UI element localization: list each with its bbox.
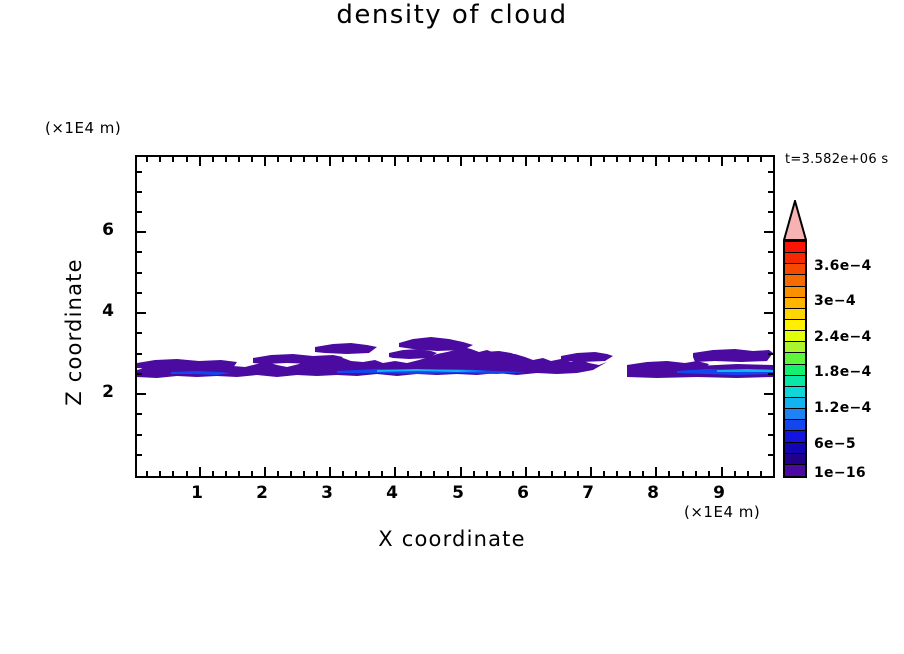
x-tick-minor — [708, 471, 710, 476]
x-tick-minor — [512, 471, 514, 476]
x-tick-top-minor — [277, 157, 279, 162]
x-tick-minor — [225, 471, 227, 476]
colorbar-band — [785, 353, 805, 364]
colorbar-tick-label: 1.8e−4 — [814, 364, 872, 380]
x-tick-minor — [159, 471, 161, 476]
colorbar-band — [785, 431, 805, 442]
x-tick-minor — [629, 471, 631, 476]
colorbar-band — [785, 420, 805, 431]
colorbar[interactable] — [783, 240, 807, 478]
y-tick-minor — [137, 211, 142, 213]
x-tick-top-minor — [251, 157, 253, 162]
x-tick-top-minor — [668, 157, 670, 162]
x-tick-top-minor — [433, 157, 435, 162]
x-tick-top-minor — [355, 157, 357, 162]
x-tick-top-minor — [159, 157, 161, 162]
x-tick-top-minor — [747, 157, 749, 162]
x-tick-minor — [355, 471, 357, 476]
x-tick-top-minor — [342, 157, 344, 162]
y-tick-right-minor — [768, 413, 773, 415]
y-tick-right-minor — [768, 434, 773, 436]
x-tick-major — [264, 467, 266, 476]
x-tick-minor — [747, 471, 749, 476]
colorbar-tick-label: 1.2e−4 — [814, 400, 872, 416]
x-tick-top-minor — [225, 157, 227, 162]
colorbar-band — [785, 387, 805, 398]
colorbar-tick-label: 3e−4 — [814, 293, 856, 309]
x-tick-top-minor — [629, 157, 631, 162]
x-tick-major — [590, 467, 592, 476]
x-tick-minor — [577, 471, 579, 476]
x-tick-minor — [473, 471, 475, 476]
x-tick-top-minor — [538, 157, 540, 162]
colorbar-band — [785, 309, 805, 320]
x-tick-label: 2 — [242, 483, 282, 503]
x-tick-minor — [734, 471, 736, 476]
x-tick-minor — [251, 471, 253, 476]
x-tick-top-minor — [682, 157, 684, 162]
colorbar-band — [785, 454, 805, 465]
y-axis-title: Z coordinate — [62, 232, 86, 432]
x-tick-minor — [342, 471, 344, 476]
x-tick-label: 1 — [177, 483, 217, 503]
x-tick-top-minor — [212, 157, 214, 162]
y-tick-minor — [137, 454, 142, 456]
x-tick-major — [460, 467, 462, 476]
x-tick-minor — [172, 471, 174, 476]
x-tick-label: 7 — [568, 483, 608, 503]
x-tick-label: 6 — [503, 483, 543, 503]
page-title: density of cloud — [0, 0, 904, 30]
x-tick-label: 5 — [438, 483, 478, 503]
x-axis-title: X coordinate — [0, 527, 904, 551]
colorbar-over-arrow — [783, 200, 807, 241]
x-tick-major — [655, 467, 657, 476]
x-tick-major — [329, 467, 331, 476]
colorbar-band — [785, 242, 805, 253]
x-tick-top-minor — [290, 157, 292, 162]
x-tick-top-major — [199, 157, 201, 166]
x-tick-minor — [303, 471, 305, 476]
y-tick-minor — [137, 251, 142, 253]
x-tick-top-minor — [186, 157, 188, 162]
x-tick-minor — [381, 471, 383, 476]
x-tick-minor — [695, 471, 697, 476]
x-tick-top-minor — [551, 157, 553, 162]
x-tick-label: 9 — [699, 483, 739, 503]
x-tick-top-minor — [760, 157, 762, 162]
x-tick-top-major — [721, 157, 723, 166]
y-tick-minor — [137, 373, 142, 375]
x-tick-top-minor — [564, 157, 566, 162]
colorbar-band — [785, 320, 805, 331]
contour-field — [137, 157, 773, 476]
y-tick-right-minor — [768, 191, 773, 193]
colorbar-band — [785, 465, 805, 476]
x-tick-minor — [538, 471, 540, 476]
x-tick-top-minor — [695, 157, 697, 162]
colorbar-band — [785, 264, 805, 275]
y-tick-right-minor — [768, 251, 773, 253]
y-tick-right-major — [764, 312, 773, 314]
x-tick-minor — [447, 471, 449, 476]
x-tick-top-minor — [499, 157, 501, 162]
colorbar-band — [785, 398, 805, 409]
colorbar-tick-label: 6e−5 — [814, 436, 856, 452]
y-tick-minor — [137, 191, 142, 193]
y-tick-minor — [137, 353, 142, 355]
y-tick-right-major — [764, 393, 773, 395]
y-tick-right-minor — [768, 272, 773, 274]
x-tick-minor — [420, 471, 422, 476]
y-tick-minor — [137, 171, 142, 173]
x-tick-top-major — [394, 157, 396, 166]
x-tick-top-minor — [146, 157, 148, 162]
x-tick-minor — [616, 471, 618, 476]
timestamp-annotation: t=3.582e+06 s — [785, 152, 888, 167]
x-axis-units-label: (×1E4 m) — [684, 503, 760, 521]
y-axis-units-label: (×1E4 m) — [45, 119, 121, 137]
x-tick-top-minor — [512, 157, 514, 162]
x-tick-minor — [407, 471, 409, 476]
colorbar-tick-label: 1e−16 — [814, 465, 866, 481]
x-tick-minor — [290, 471, 292, 476]
x-tick-major — [394, 467, 396, 476]
x-tick-minor — [564, 471, 566, 476]
x-tick-minor — [642, 471, 644, 476]
y-tick-right-minor — [768, 454, 773, 456]
colorbar-band — [785, 376, 805, 387]
colorbar-band — [785, 287, 805, 298]
colorbar-band — [785, 253, 805, 264]
y-tick-right-minor — [768, 353, 773, 355]
x-tick-top-minor — [381, 157, 383, 162]
y-tick-label: 4 — [84, 301, 114, 321]
colorbar-band — [785, 409, 805, 420]
x-tick-top-minor — [473, 157, 475, 162]
x-tick-minor — [277, 471, 279, 476]
colorbar-band — [785, 298, 805, 309]
y-tick-major — [137, 312, 146, 314]
x-tick-minor — [603, 471, 605, 476]
x-tick-top-major — [460, 157, 462, 166]
colorbar-tick-label: 2.4e−4 — [814, 329, 872, 345]
x-tick-top-minor — [407, 157, 409, 162]
y-tick-minor — [137, 434, 142, 436]
x-tick-minor — [186, 471, 188, 476]
x-tick-top-major — [329, 157, 331, 166]
x-tick-top-minor — [642, 157, 644, 162]
y-tick-minor — [137, 292, 142, 294]
y-tick-right-minor — [768, 292, 773, 294]
x-tick-major — [199, 467, 201, 476]
y-tick-right-minor — [768, 332, 773, 334]
x-tick-label: 4 — [372, 483, 412, 503]
x-tick-top-minor — [447, 157, 449, 162]
x-tick-top-major — [525, 157, 527, 166]
colorbar-band — [785, 331, 805, 342]
x-tick-top-major — [264, 157, 266, 166]
colorbar-band — [785, 275, 805, 286]
x-tick-top-minor — [172, 157, 174, 162]
x-tick-top-minor — [616, 157, 618, 162]
colorbar-tick-label: 3.6e−4 — [814, 258, 872, 274]
figure-canvas: density of cloud (×1E4 m) (×1E4 m) t=3.5… — [0, 0, 904, 654]
x-tick-minor — [760, 471, 762, 476]
y-tick-right-minor — [768, 373, 773, 375]
x-tick-major — [721, 467, 723, 476]
x-tick-minor — [368, 471, 370, 476]
x-tick-top-major — [590, 157, 592, 166]
x-tick-top-minor — [734, 157, 736, 162]
x-tick-minor — [668, 471, 670, 476]
x-tick-minor — [682, 471, 684, 476]
colorbar-band — [785, 443, 805, 454]
plot-area — [135, 155, 775, 478]
y-tick-major — [137, 393, 146, 395]
x-tick-top-minor — [603, 157, 605, 162]
colorbar-band — [785, 342, 805, 353]
x-tick-label: 3 — [307, 483, 347, 503]
x-tick-minor — [551, 471, 553, 476]
x-tick-minor — [433, 471, 435, 476]
x-tick-top-minor — [238, 157, 240, 162]
x-tick-label: 8 — [633, 483, 673, 503]
x-tick-top-minor — [486, 157, 488, 162]
y-tick-label: 2 — [84, 382, 114, 402]
colorbar-band — [785, 365, 805, 376]
x-tick-top-major — [655, 157, 657, 166]
y-tick-right-minor — [768, 211, 773, 213]
y-tick-major — [137, 231, 146, 233]
x-tick-minor — [212, 471, 214, 476]
x-tick-top-minor — [708, 157, 710, 162]
x-tick-top-minor — [420, 157, 422, 162]
y-tick-label: 6 — [84, 220, 114, 240]
y-tick-right-minor — [768, 171, 773, 173]
x-tick-minor — [499, 471, 501, 476]
x-tick-top-minor — [303, 157, 305, 162]
x-tick-minor — [146, 471, 148, 476]
y-tick-minor — [137, 332, 142, 334]
x-tick-top-minor — [368, 157, 370, 162]
x-tick-top-minor — [577, 157, 579, 162]
x-tick-minor — [316, 471, 318, 476]
y-tick-right-major — [764, 231, 773, 233]
x-tick-top-minor — [316, 157, 318, 162]
y-tick-minor — [137, 413, 142, 415]
y-tick-minor — [137, 272, 142, 274]
x-tick-minor — [238, 471, 240, 476]
x-tick-minor — [486, 471, 488, 476]
x-tick-major — [525, 467, 527, 476]
